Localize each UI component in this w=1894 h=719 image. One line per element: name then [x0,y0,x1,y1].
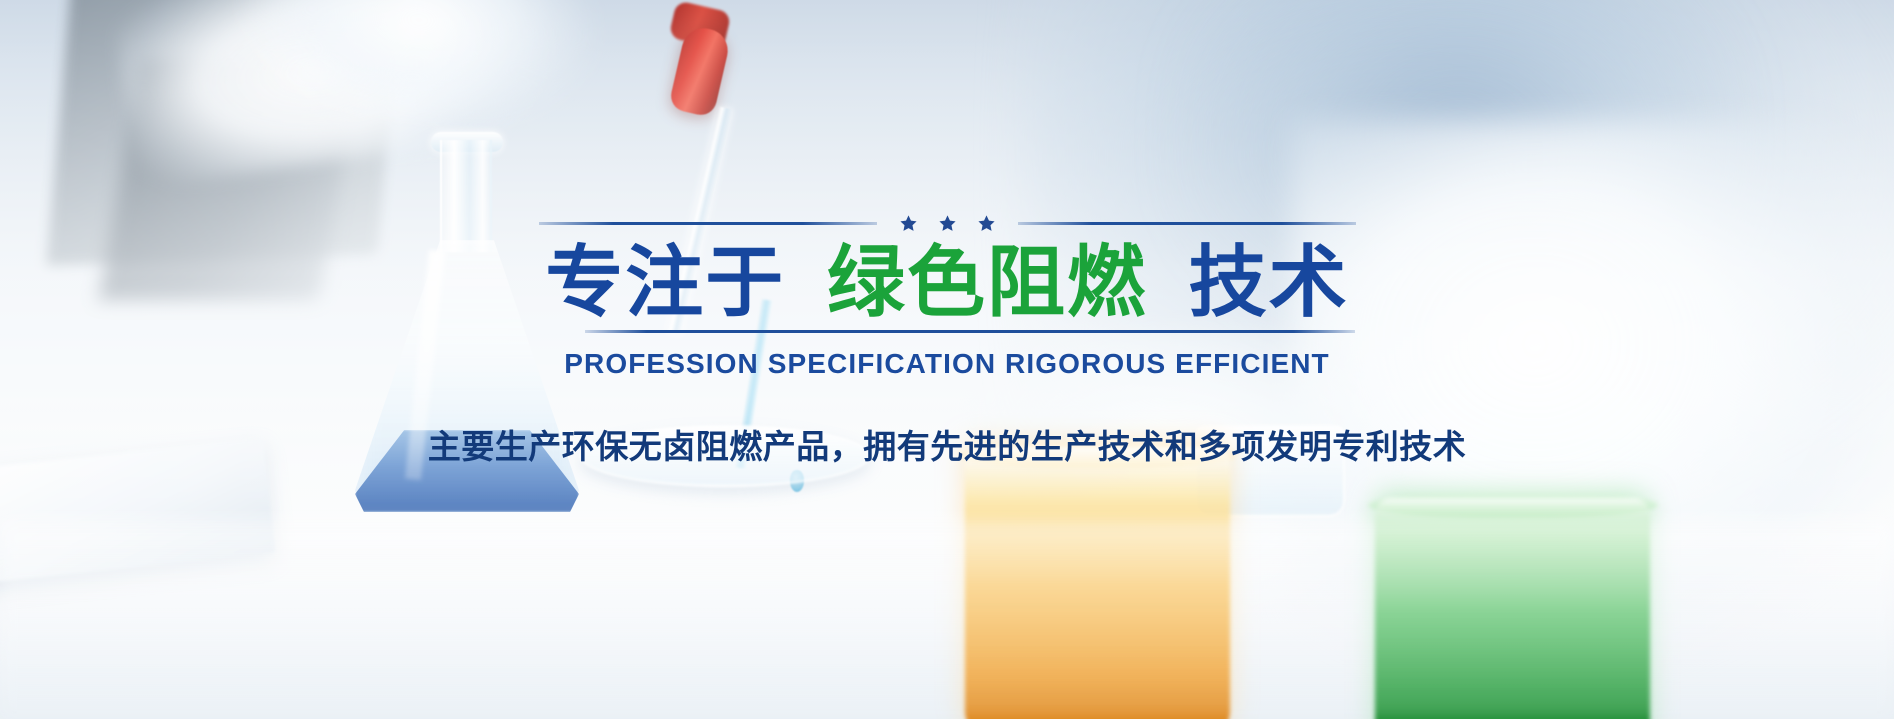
divider-rule-right [1018,222,1356,225]
headline-segment-3: 技术 [1189,238,1349,326]
banner-headline: 专注于 绿色阻燃 技术 [0,238,1894,326]
divider-rule-left [539,222,877,225]
headline-underline [585,330,1355,333]
star-icon [899,214,918,233]
banner-description-chinese: 主要生产环保无卤阻燃产品，拥有先进的生产技术和多项发明专利技术 [0,420,1894,468]
banner-subtitle-english: PROFESSION SPECIFICATION RIGOROUS EFFICI… [0,348,1894,380]
star-group [899,214,996,233]
headline-segment-1: 专注于 [545,238,785,326]
star-icon [938,214,957,233]
star-icon [977,214,996,233]
hero-banner: 专注于 绿色阻燃 技术 PROFESSION SPECIFICATION RIG… [0,0,1894,719]
ornament-rule-row [0,214,1894,233]
headline-segment-2: 绿色阻燃 [827,238,1147,326]
banner-content: 专注于 绿色阻燃 技术 PROFESSION SPECIFICATION RIG… [0,0,1894,719]
